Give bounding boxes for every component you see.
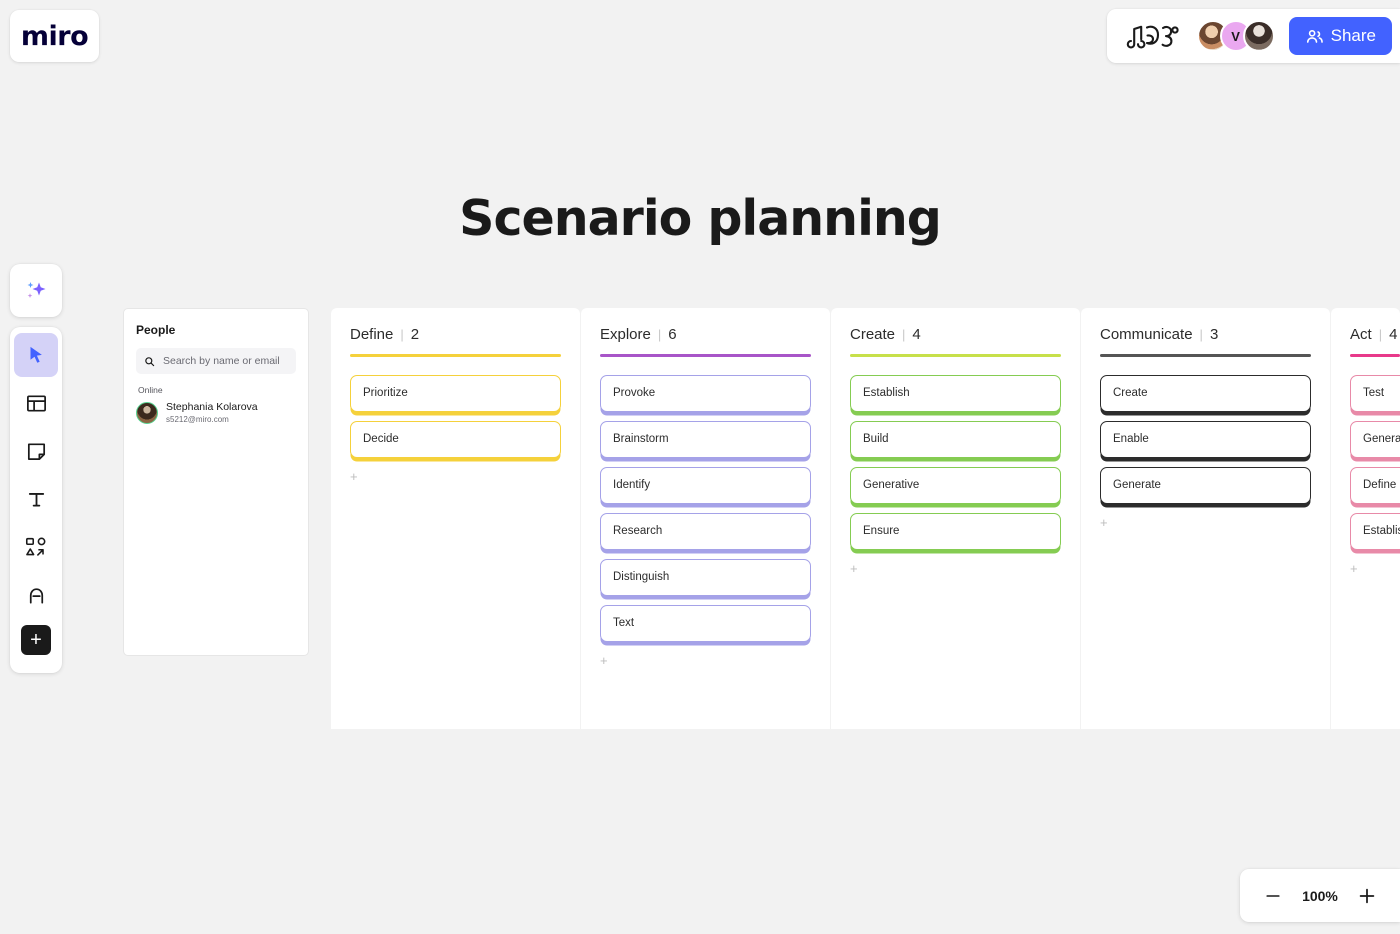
column-card-list: EstablishBuildGenerativeEnsure xyxy=(850,375,1061,550)
board-card[interactable]: Provoke xyxy=(600,375,811,412)
column-title: Communicate xyxy=(1100,326,1193,343)
board-card-label: Test xyxy=(1363,387,1384,399)
people-search-box[interactable] xyxy=(136,348,296,374)
ai-assistant-button[interactable] xyxy=(10,264,62,317)
add-card-button[interactable]: + xyxy=(1350,562,1364,575)
add-card-button[interactable]: + xyxy=(1100,516,1114,529)
board-card-label: Establish xyxy=(863,387,910,399)
people-panel: People Online Stephania Kolarova s5212@m… xyxy=(123,308,309,656)
board-card[interactable]: Brainstorm xyxy=(600,421,811,458)
people-icon xyxy=(1305,27,1324,46)
add-card-button[interactable]: + xyxy=(600,654,614,667)
people-panel-title: People xyxy=(136,323,296,337)
board-card[interactable]: Prioritize xyxy=(350,375,561,412)
zoom-control: 100% xyxy=(1240,869,1400,922)
column-count: 4 xyxy=(1389,326,1397,343)
list-item[interactable]: Stephania Kolarova s5212@miro.com xyxy=(136,401,296,425)
column-accent-rule xyxy=(350,354,561,357)
board-card[interactable]: Generative xyxy=(850,467,1061,504)
board-card-label: Establish xyxy=(1363,525,1400,537)
column-count: 3 xyxy=(1210,326,1218,343)
board-card[interactable]: Identify xyxy=(600,467,811,504)
cursor-icon xyxy=(25,344,47,366)
column-accent-rule xyxy=(600,354,811,357)
column-accent-rule xyxy=(850,354,1061,357)
column-header[interactable]: Create|4 xyxy=(850,326,1061,354)
pen-draw-icon xyxy=(25,584,48,607)
column-separator: | xyxy=(400,327,403,342)
board-card-label: Prioritize xyxy=(363,387,408,399)
collaborator-avatars: V xyxy=(1197,20,1275,52)
column-accent-rule xyxy=(1350,354,1400,357)
pen-tool[interactable] xyxy=(14,573,58,617)
column-header[interactable]: Define|2 xyxy=(350,326,561,354)
column-header[interactable]: Communicate|3 xyxy=(1100,326,1311,354)
board-card-label: Identify xyxy=(613,479,650,491)
music-doodle-icon[interactable] xyxy=(1125,21,1183,51)
board-card[interactable]: Ensure xyxy=(850,513,1061,550)
board-card-label: Define xyxy=(1363,479,1396,491)
column-card-list: PrioritizeDecide xyxy=(350,375,561,458)
board-card-label: Distinguish xyxy=(613,571,669,583)
board-card-label: Brainstorm xyxy=(613,433,669,445)
board-column: Act|4TestGenerateDefineEstablish+ xyxy=(1331,308,1400,729)
person-email: s5212@miro.com xyxy=(166,415,258,425)
board-column: Define|2PrioritizeDecide+ xyxy=(331,308,580,729)
share-button-label: Share xyxy=(1331,26,1376,46)
board-card[interactable]: Create xyxy=(1100,375,1311,412)
shapes-connector-icon xyxy=(24,535,48,559)
board-card[interactable]: Distinguish xyxy=(600,559,811,596)
board-column: Create|4EstablishBuildGenerativeEnsure+ xyxy=(831,308,1080,729)
board-card[interactable]: Establish xyxy=(1350,513,1400,550)
board-card-label: Build xyxy=(863,433,889,445)
column-card-list: CreateEnableGenerate xyxy=(1100,375,1311,504)
text-t-icon xyxy=(25,488,48,511)
board-card-label: Generative xyxy=(863,479,919,491)
kanban-columns: Define|2PrioritizeDecide+Explore|6Provok… xyxy=(331,308,1400,729)
column-accent-rule xyxy=(1100,354,1311,357)
board-card-label: Text xyxy=(613,617,634,629)
shapes-tool[interactable] xyxy=(14,525,58,569)
search-icon xyxy=(144,356,155,367)
board-card[interactable]: Enable xyxy=(1100,421,1311,458)
page-title: Scenario planning xyxy=(0,190,1400,247)
board-card[interactable]: Research xyxy=(600,513,811,550)
miro-logo-text: miro xyxy=(21,21,88,52)
person-name: Stephania Kolarova xyxy=(166,401,258,415)
top-right-toolbar: V Share xyxy=(1107,9,1400,63)
board-card-label: Research xyxy=(613,525,662,537)
board-card-label: Generate xyxy=(1363,433,1400,445)
zoom-level-value: 100% xyxy=(1302,888,1338,904)
avatar xyxy=(136,402,158,424)
column-title: Act xyxy=(1350,326,1372,343)
text-tool[interactable] xyxy=(14,477,58,521)
board-card-label: Create xyxy=(1113,387,1148,399)
column-separator: | xyxy=(658,327,661,342)
column-header[interactable]: Act|4 xyxy=(1350,326,1400,354)
share-button[interactable]: Share xyxy=(1289,17,1392,55)
zoom-out-button[interactable] xyxy=(1259,882,1287,910)
board-card[interactable]: Text xyxy=(600,605,811,642)
board-card[interactable]: Establish xyxy=(850,375,1061,412)
avatar[interactable] xyxy=(1243,20,1275,52)
board-card[interactable]: Test xyxy=(1350,375,1400,412)
plus-icon xyxy=(1356,885,1378,907)
column-header[interactable]: Explore|6 xyxy=(600,326,811,354)
board-card[interactable]: Generate xyxy=(1100,467,1311,504)
column-card-list: TestGenerateDefineEstablish xyxy=(1350,375,1400,550)
sparkle-ai-icon xyxy=(22,277,50,305)
add-card-button[interactable]: + xyxy=(850,562,864,575)
column-separator: | xyxy=(902,327,905,342)
column-count: 4 xyxy=(912,326,920,343)
column-separator: | xyxy=(1200,327,1203,342)
miro-board-canvas[interactable]: miro V Share xyxy=(0,0,1400,934)
board-card[interactable]: Generate xyxy=(1350,421,1400,458)
add-card-button[interactable]: + xyxy=(350,470,364,483)
board-card-label: Provoke xyxy=(613,387,655,399)
cursor-select-tool[interactable] xyxy=(14,333,58,377)
people-status-label: Online xyxy=(138,385,296,395)
people-search-input[interactable] xyxy=(161,354,288,368)
board-card[interactable]: Decide xyxy=(350,421,561,458)
column-title: Create xyxy=(850,326,895,343)
column-card-list: ProvokeBrainstormIdentifyResearchDisting… xyxy=(600,375,811,642)
board-column: Explore|6ProvokeBrainstormIdentifyResear… xyxy=(581,308,830,729)
miro-logo-button[interactable]: miro xyxy=(10,10,99,62)
column-count: 6 xyxy=(668,326,676,343)
template-frame-icon xyxy=(25,392,48,415)
column-separator: | xyxy=(1379,327,1382,342)
column-count: 2 xyxy=(411,326,419,343)
board-column: Communicate|3CreateEnableGenerate+ xyxy=(1081,308,1330,729)
board-card[interactable]: Build xyxy=(850,421,1061,458)
templates-tool[interactable] xyxy=(14,381,58,425)
board-card-label: Decide xyxy=(363,433,399,445)
sticky-note-icon xyxy=(25,440,48,463)
sticky-note-tool[interactable] xyxy=(14,429,58,473)
zoom-in-button[interactable] xyxy=(1353,882,1381,910)
more-tools-button[interactable]: + xyxy=(21,625,51,655)
column-title: Define xyxy=(350,326,393,343)
board-card-label: Ensure xyxy=(863,525,899,537)
column-title: Explore xyxy=(600,326,651,343)
minus-icon xyxy=(1263,886,1283,906)
left-toolbar: + xyxy=(10,327,62,673)
board-card-label: Generate xyxy=(1113,479,1161,491)
board-card[interactable]: Define xyxy=(1350,467,1400,504)
board-card-label: Enable xyxy=(1113,433,1149,445)
